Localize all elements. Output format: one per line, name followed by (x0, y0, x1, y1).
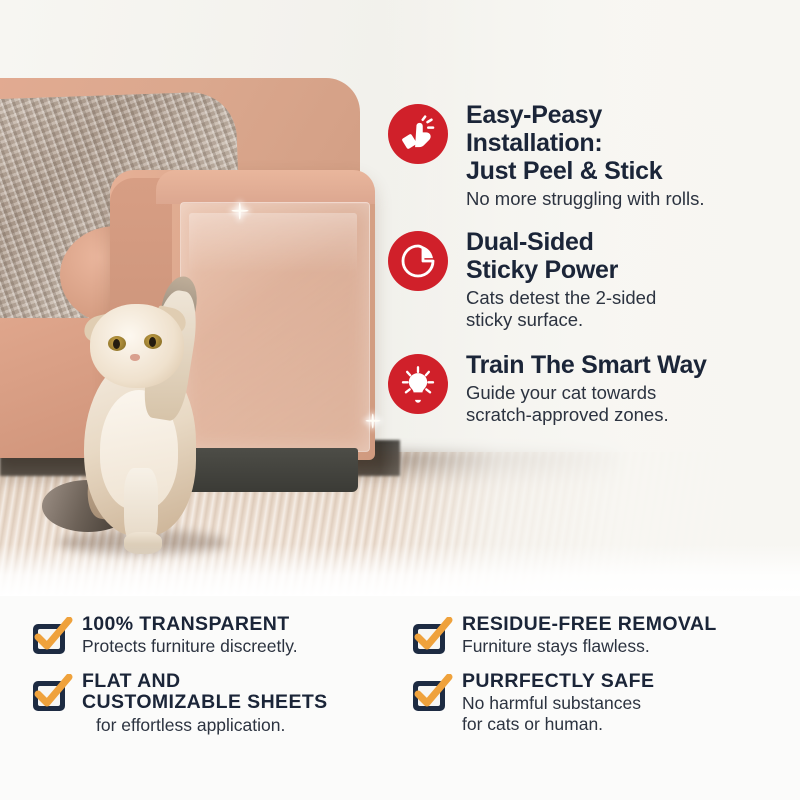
checkbox-checked-icon (30, 619, 70, 659)
checklist-text: PURRFECTLY SAFE No harmful substances fo… (462, 669, 654, 735)
kitten-pupil-right (149, 337, 156, 347)
checkmark-glyph (31, 674, 73, 712)
checklist-item-flat-customizable: FLAT AND CUSTOMIZABLE SHEETS for effortl… (30, 669, 410, 736)
kitten-nose (130, 354, 140, 361)
kitten (38, 280, 248, 555)
checklist-subtext: No harmful substances for cats or human. (462, 693, 654, 734)
checklist-text: RESIDUE-FREE REMOVAL Furniture stays fla… (462, 612, 717, 657)
feature-text-sticky-power: Dual-Sided Sticky Power Cats detest the … (466, 227, 656, 332)
checklist-subtext: for effortless application. (82, 715, 328, 736)
checklist-heading: RESIDUE-FREE REMOVAL (462, 614, 717, 635)
checklist-subtext: Furniture stays flawless. (462, 636, 717, 657)
photo-bottom-fade (0, 544, 800, 596)
checklist-text: 100% TRANSPARENT Protects furniture disc… (82, 612, 298, 657)
feature-heading: Train The Smart Way (466, 351, 707, 379)
kitten-eye-right (144, 334, 162, 349)
feature-text-train-smart: Train The Smart Way Guide your cat towar… (466, 350, 707, 427)
feature-item-train-smart: Train The Smart Way Guide your cat towar… (388, 350, 792, 427)
checkmark-glyph (411, 674, 453, 712)
feature-subtext: Guide your cat towards scratch-approved … (466, 382, 707, 427)
sofa-arm-top (156, 170, 375, 204)
checkmark-glyph (31, 617, 73, 655)
kitten-eye-left (108, 336, 126, 351)
benefits-checklist: 100% TRANSPARENT Protects furniture disc… (0, 596, 800, 800)
checklist-heading: 100% TRANSPARENT (82, 614, 298, 635)
feature-list: Easy-Peasy Installation: Just Peel & Sti… (388, 100, 792, 443)
checklist-item-residue-free: RESIDUE-FREE REMOVAL Furniture stays fla… (410, 612, 790, 659)
feature-item-sticky-power: Dual-Sided Sticky Power Cats detest the … (388, 227, 792, 332)
protector-sheen (189, 213, 357, 273)
feature-heading: Dual-Sided Sticky Power (466, 228, 656, 284)
peeling-sticker-icon (388, 231, 448, 291)
feature-text-installation: Easy-Peasy Installation: Just Peel & Sti… (466, 100, 705, 211)
feature-item-installation: Easy-Peasy Installation: Just Peel & Sti… (388, 100, 792, 211)
checklist-heading: FLAT AND CUSTOMIZABLE SHEETS (82, 671, 328, 714)
checkmark-glyph (411, 617, 453, 655)
checklist-item-purrfectly-safe: PURRFECTLY SAFE No harmful substances fo… (410, 669, 790, 736)
feature-heading: Easy-Peasy Installation: Just Peel & Sti… (466, 101, 705, 185)
checklist-subtext: Protects furniture discreetly. (82, 636, 298, 657)
checklist-item-transparent: 100% TRANSPARENT Protects furniture disc… (30, 612, 410, 659)
hand-press-icon (388, 104, 448, 164)
kitten-pupil-left (113, 339, 120, 349)
checklist-heading: PURRFECTLY SAFE (462, 671, 654, 692)
feature-subtext: No more struggling with rolls. (466, 188, 705, 211)
lightbulb-icon (388, 354, 448, 414)
kitten-head (90, 304, 184, 388)
checkbox-checked-icon (410, 619, 450, 659)
feature-subtext: Cats detest the 2-sided sticky surface. (466, 287, 656, 332)
checkbox-checked-icon (410, 676, 450, 716)
checkbox-checked-icon (30, 676, 70, 716)
product-infographic: Easy-Peasy Installation: Just Peel & Sti… (0, 0, 800, 800)
checklist-text: FLAT AND CUSTOMIZABLE SHEETS for effortl… (82, 669, 328, 736)
